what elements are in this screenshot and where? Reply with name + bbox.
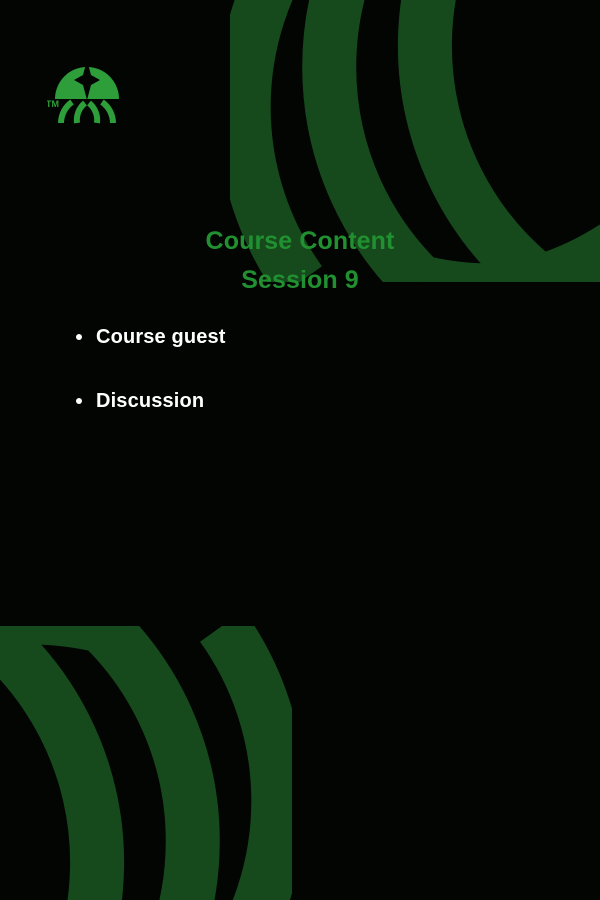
trademark-mark: TM: [47, 99, 59, 109]
bullet-list: Course guest Discussion: [70, 324, 540, 452]
list-item: Discussion: [70, 388, 540, 414]
title-line-2: Session 9: [0, 261, 600, 300]
title-line-1: Course Content: [0, 222, 600, 261]
list-item-label: Course guest: [96, 326, 226, 348]
brand-logo: TM: [47, 47, 127, 127]
title-block: Course Content Session 9: [0, 222, 600, 300]
slide-canvas: TM Course Content Session 9 Course guest…: [0, 0, 600, 900]
bullet-dot-icon: [76, 334, 82, 340]
bullet-dot-icon: [76, 398, 82, 404]
logo-tentacles: [61, 102, 113, 123]
logo-dome: [55, 67, 119, 99]
list-item-label: Discussion: [96, 390, 204, 412]
list-item: Course guest: [70, 324, 540, 350]
decorative-arcs-bottom-left: [0, 626, 292, 900]
